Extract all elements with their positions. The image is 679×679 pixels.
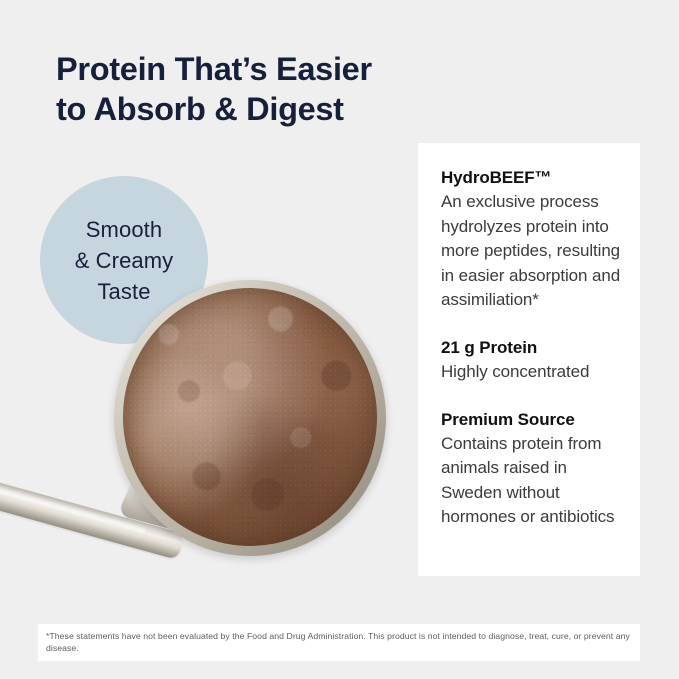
feature-block-premium-source: Premium Source Contains protein from ani… — [441, 408, 630, 530]
page-title: Protein That’s Easier to Absorb & Digest — [56, 49, 416, 129]
feature-body: Highly concentrated — [441, 360, 630, 385]
feature-title: Premium Source — [441, 408, 630, 432]
feature-body: Contains protein from animals raised in … — [441, 432, 630, 530]
disclaimer-panel: *These statements have not been evaluate… — [38, 624, 640, 661]
scoop-bowl — [114, 280, 386, 556]
feature-body: An exclusive process hydrolyzes protein … — [441, 190, 630, 313]
feature-title: HydroBEEF™ — [441, 166, 630, 190]
feature-block-protein-amount: 21 g Protein Highly concentrated — [441, 336, 630, 385]
page-title-line-1: Protein That’s Easier — [56, 51, 372, 87]
feature-title: 21 g Protein — [441, 336, 630, 360]
protein-powder — [123, 288, 377, 546]
feature-block-hydrobeef: HydroBEEF™ An exclusive process hydrolyz… — [441, 166, 630, 313]
infographic-canvas: Protein That’s Easier to Absorb & Digest… — [0, 0, 679, 679]
page-title-line-2: to Absorb & Digest — [56, 89, 416, 129]
disclaimer-text: *These statements have not been evaluate… — [46, 630, 634, 655]
features-panel: HydroBEEF™ An exclusive process hydrolyz… — [418, 143, 640, 576]
protein-powder-scoop-image — [0, 270, 400, 600]
badge-line-1: Smooth — [86, 214, 162, 245]
